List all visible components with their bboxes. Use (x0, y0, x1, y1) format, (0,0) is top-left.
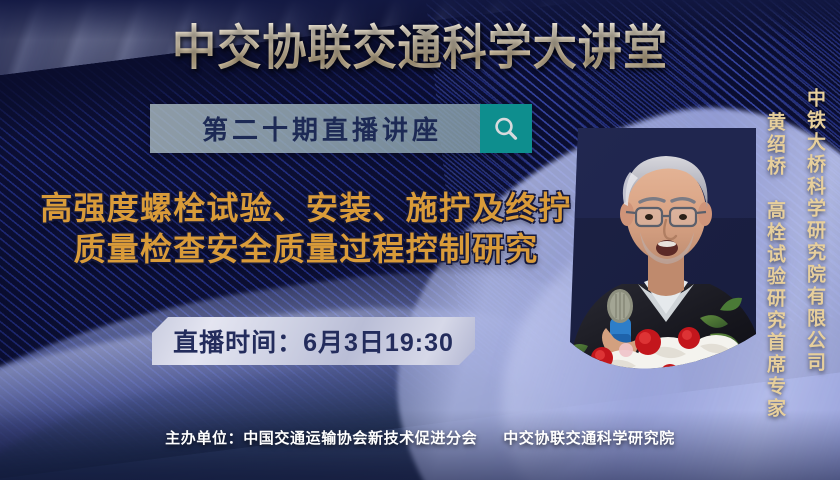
session-badge-label: 第二十期直播讲座 (150, 104, 480, 153)
speaker-name-and-role: 黄绍桥 高栓试验研究首席专家 (761, 112, 788, 420)
broadcast-time-chip: 直播时间：6月3日19:30 (152, 317, 475, 365)
lecture-headline-line-1: 高强度螺栓试验、安装、施拧及终拧 (8, 188, 604, 229)
broadcast-time-label: 直播时间：6月3日19:30 (173, 323, 454, 359)
live-lecture-poster: 中铁大桥科学研究院有限公司 黄绍桥 高栓试验研究首席专家 中交协联交通科学大讲堂… (0, 0, 840, 480)
footer-org-2: 中交协联交通科学研究院 (503, 430, 675, 447)
lecture-headline-line-2: 质量检查安全质量过程控制研究 (8, 229, 604, 270)
footer-prefix: 主办单位： (165, 430, 243, 447)
search-icon (491, 114, 521, 144)
speaker-organization: 中铁大桥科学研究院有限公司 (801, 88, 828, 374)
lecture-headline: 高强度螺栓试验、安装、施拧及终拧 质量检查安全质量过程控制研究 (8, 188, 604, 270)
footer-org-1: 中国交通运输协会新技术促进分会 (243, 430, 477, 447)
footer-organizers: 主办单位：中国交通运输协会新技术促进分会中交协联交通科学研究院 (0, 427, 840, 448)
page-title: 中交协联交通科学大讲堂 (34, 20, 807, 78)
search-icon-box[interactable] (480, 104, 532, 153)
session-badge: 第二十期直播讲座 (150, 104, 532, 153)
